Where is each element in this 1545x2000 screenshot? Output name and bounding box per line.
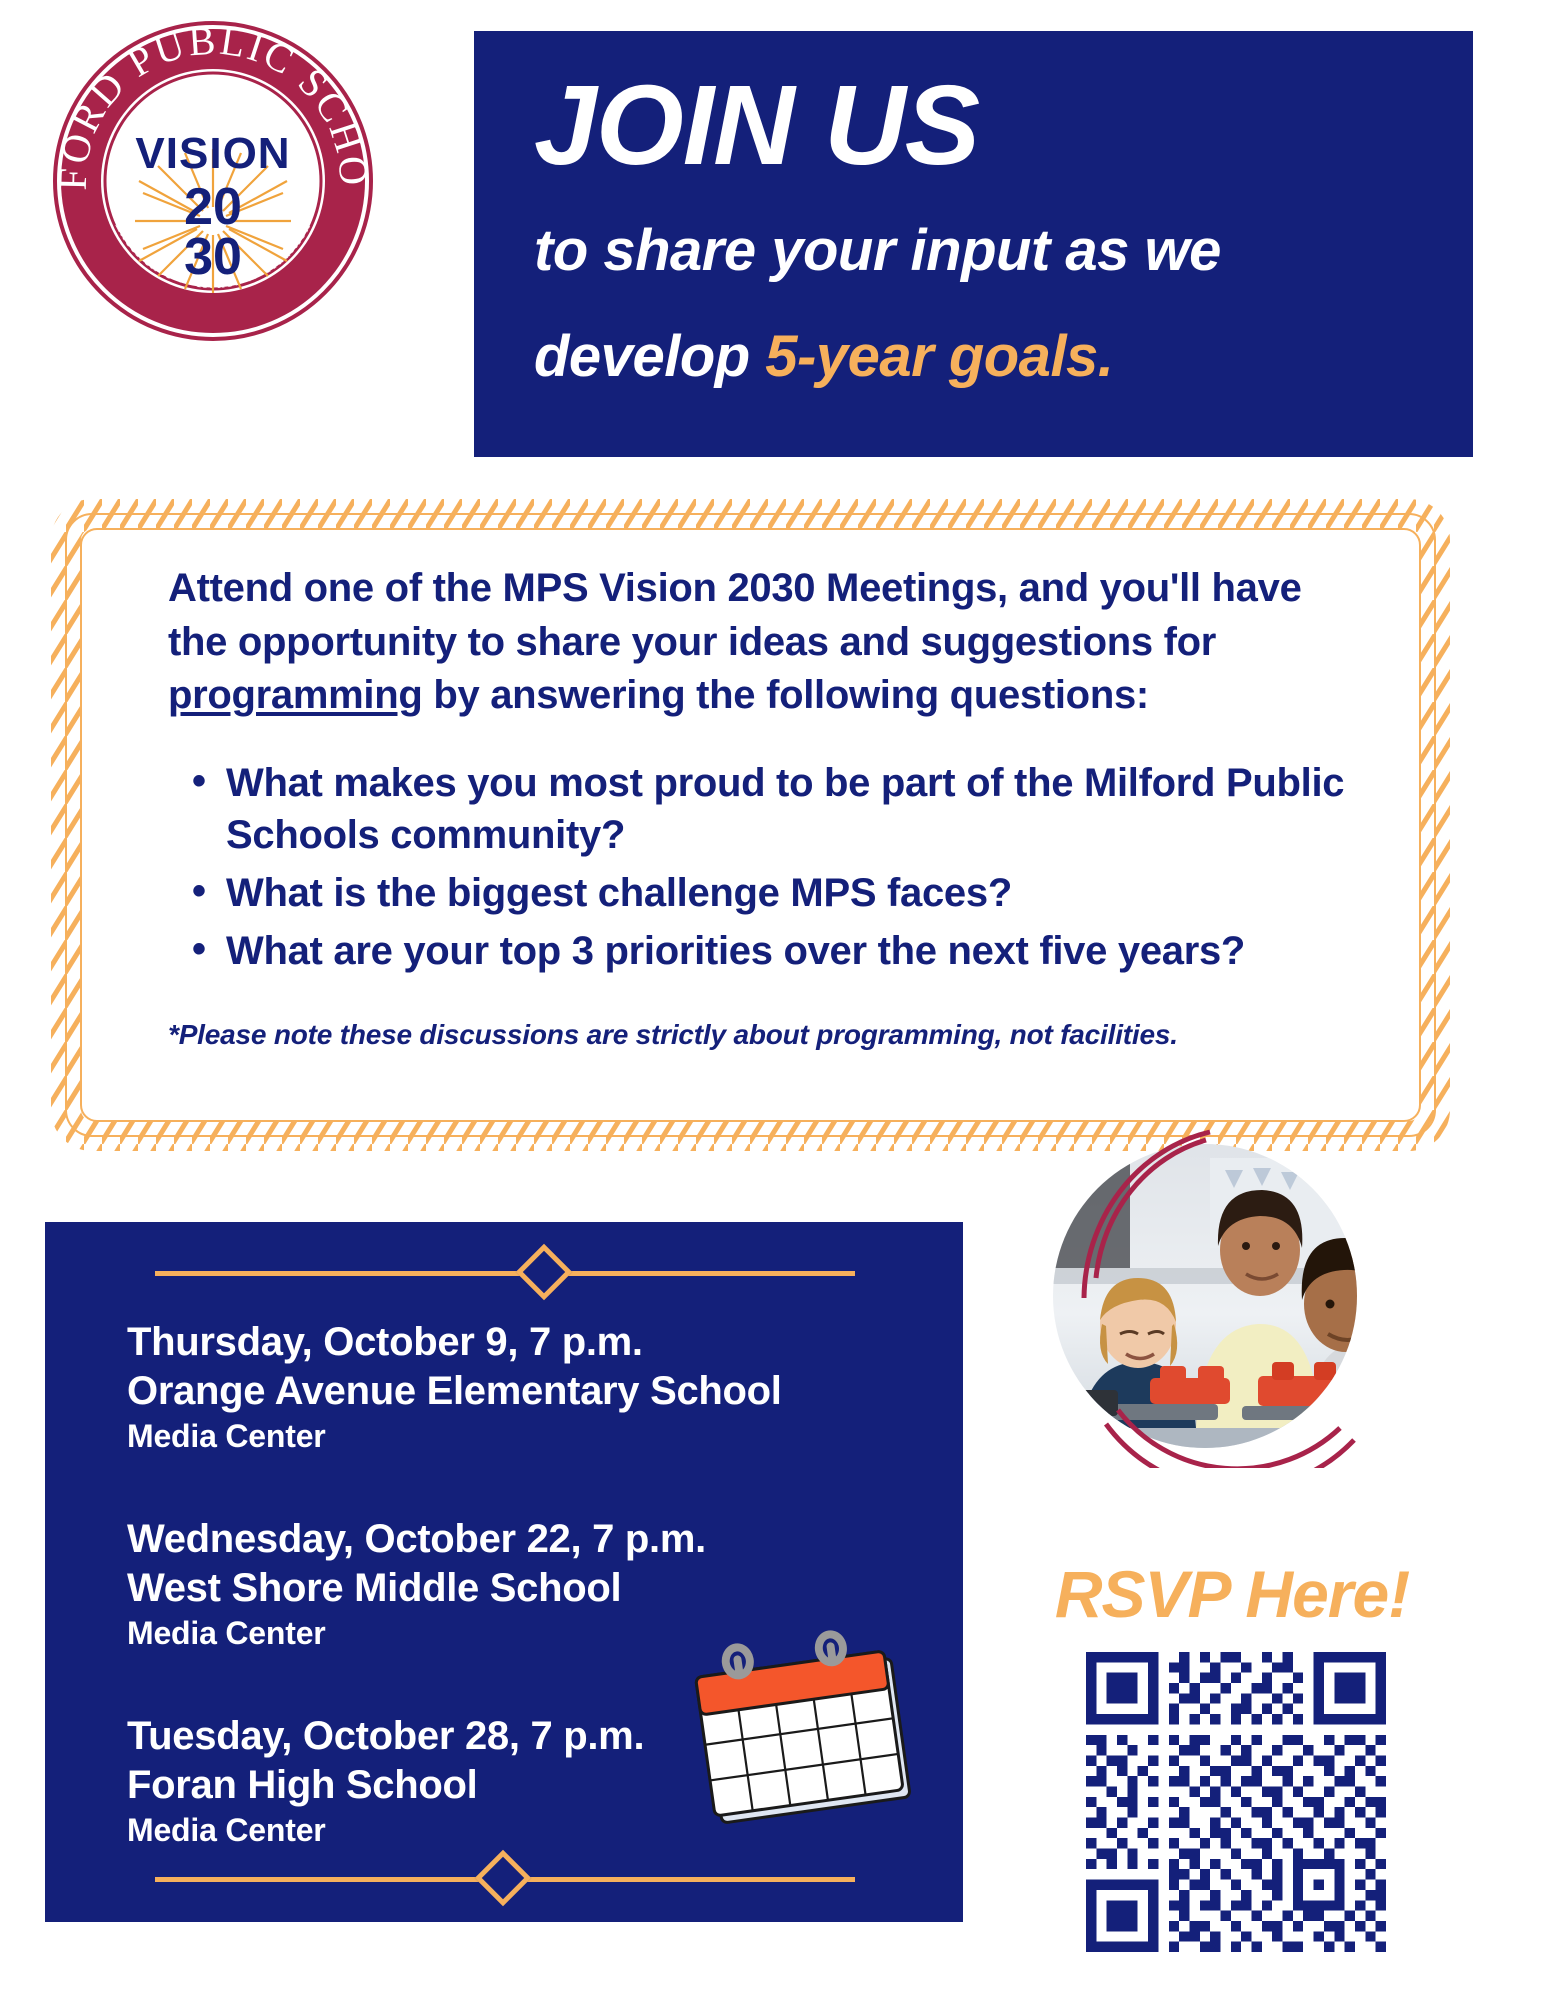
list-item: What is the biggest challenge MPS faces? [226,867,1387,919]
logo-vision-word: VISION [135,129,290,178]
info-box-content: Attend one of the MPS Vision 2030 Meetin… [106,548,1395,1121]
info-box: Attend one of the MPS Vision 2030 Meetin… [48,498,1453,1163]
header-subtitle-prefix: develop [534,324,765,389]
info-paragraph-line2: the opportunity to share your ideas and … [168,616,1387,670]
event-item: Thursday, October 9, 7 p.m. Orange Avenu… [127,1318,963,1457]
diamond-icon [516,1244,573,1301]
info-paragraph-line3: programming by answering the following q… [168,669,1387,723]
list-item: What makes you most proud to be part of … [226,757,1387,861]
page-title: JOIN US [534,55,1433,182]
info-paragraph-line3-rest: by answering the following questions: [423,673,1149,717]
diamond-icon [475,1850,532,1907]
header-subtitle-accent: 5-year goals. [765,324,1113,389]
mps-vision-2030-logo: MILFORD PUBLIC SCHOOLS Excellence ★ Hono… [48,16,378,346]
students-photo [1010,1128,1430,1468]
divider-bar [155,1271,855,1276]
divider-top [127,1252,963,1292]
questions-list: What makes you most proud to be part of … [168,757,1387,977]
divider-bottom [127,1858,881,1898]
list-item: What are your top 3 priorities over the … [226,925,1387,977]
qr-code[interactable] [1086,1652,1386,1952]
event-room: Media Center [127,1416,963,1458]
event-date: Thursday, October 9, 7 p.m. [127,1318,963,1367]
header-subtitle-line2: develop 5-year goals. [534,288,1433,394]
header-subtitle-line1: to share your input as we [534,182,1433,288]
info-paragraph-line1: Attend one of the MPS Vision 2030 Meetin… [168,562,1387,616]
flyer-page: MILFORD PUBLIC SCHOOLS Excellence ★ Hono… [0,0,1545,2000]
event-location: Orange Avenue Elementary School [127,1367,963,1416]
event-location: West Shore Middle School [127,1564,963,1613]
programming-underlined: programming [168,673,423,717]
logo-year-bottom: 30 [184,228,242,286]
calendar-icon [690,1630,930,1830]
event-date: Wednesday, October 22, 7 p.m. [127,1515,963,1564]
info-footnote: *Please note these discussions are stric… [168,1019,1387,1051]
rsvp-label: RSVP Here! [1022,1556,1442,1632]
header-banner: JOIN US to share your input as we develo… [474,31,1473,457]
